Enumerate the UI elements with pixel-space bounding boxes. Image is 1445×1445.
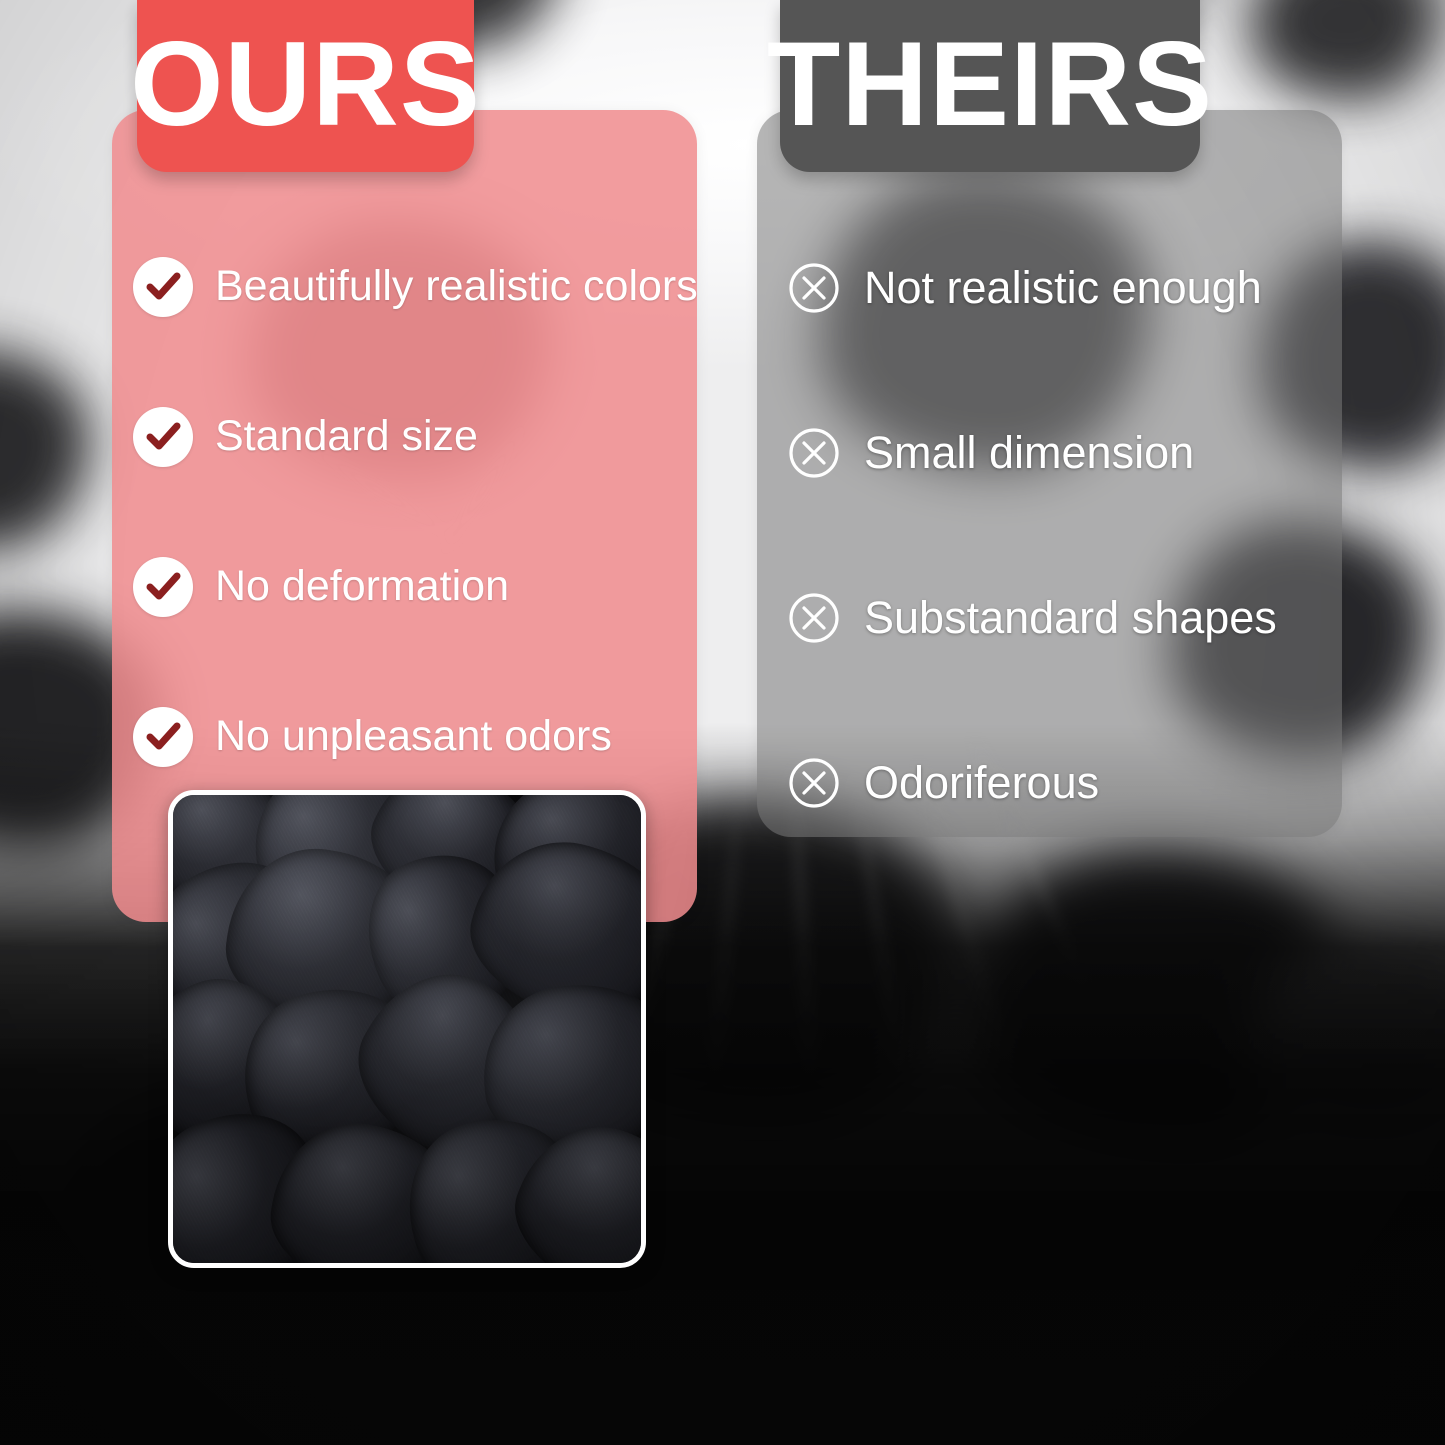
- theirs-item-label: Not realistic enough: [864, 264, 1262, 311]
- theirs-item-label: Odoriferous: [864, 759, 1099, 806]
- theirs-item-label: Substandard shapes: [864, 594, 1277, 641]
- check-icon: [133, 707, 193, 767]
- theirs-feature-list: Not realistic enough Small dimension Sub…: [786, 205, 1346, 865]
- fabric-texture: [173, 795, 641, 1263]
- circle-x-icon: [786, 590, 842, 646]
- ours-badge-label: OURS: [130, 0, 481, 144]
- check-icon: [133, 257, 193, 317]
- ours-item-label: Standard size: [215, 414, 478, 459]
- theirs-badge-label: THEIRS: [767, 0, 1213, 144]
- ours-item-label: Beautifully realistic colors: [215, 264, 698, 309]
- theirs-badge: THEIRS: [780, 0, 1200, 172]
- theirs-item-label: Small dimension: [864, 429, 1194, 476]
- list-item: No deformation: [133, 512, 693, 662]
- list-item: Odoriferous: [786, 700, 1346, 865]
- ours-badge: OURS: [137, 0, 474, 172]
- ours-feature-list: Beautifully realistic colors Standard si…: [133, 212, 693, 812]
- circle-x-icon: [786, 425, 842, 481]
- circle-x-icon: [786, 260, 842, 316]
- product-inset-photo: [168, 790, 646, 1268]
- check-icon: [133, 557, 193, 617]
- check-icon: [133, 407, 193, 467]
- list-item: Standard size: [133, 362, 693, 512]
- list-item: Substandard shapes: [786, 535, 1346, 700]
- list-item: Small dimension: [786, 370, 1346, 535]
- circle-x-icon: [786, 755, 842, 811]
- ours-item-label: No unpleasant odors: [215, 714, 612, 759]
- ours-item-label: No deformation: [215, 564, 509, 609]
- list-item: Not realistic enough: [786, 205, 1346, 370]
- list-item: Beautifully realistic colors: [133, 212, 693, 362]
